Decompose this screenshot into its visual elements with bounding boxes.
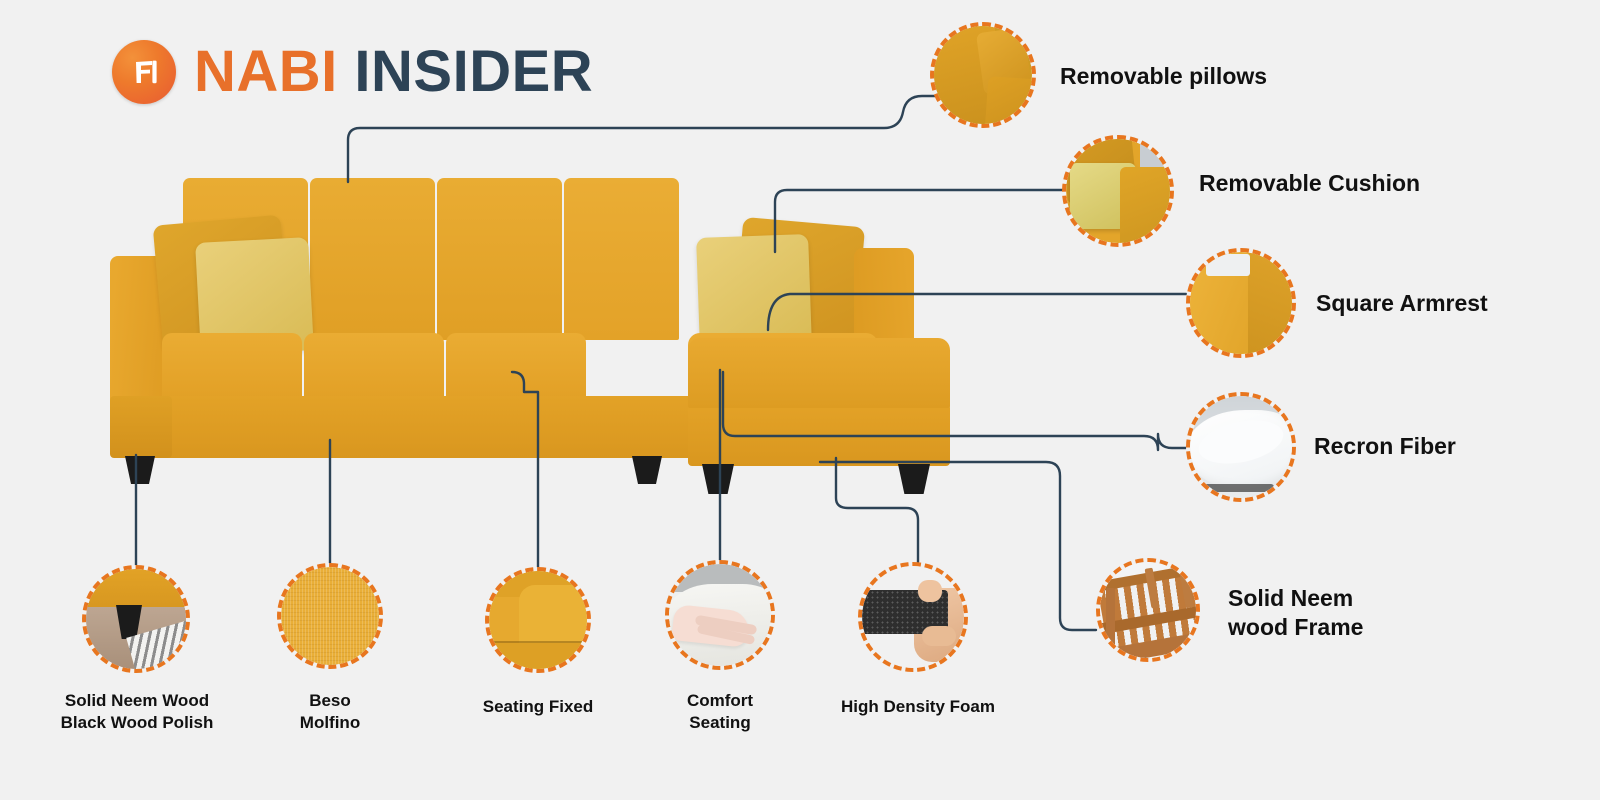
callout-bubble-removable-cushion[interactable] — [1062, 135, 1174, 247]
callout-bubble-square-armrest[interactable] — [1186, 248, 1296, 358]
callout-bubble-seating-fixed[interactable] — [485, 567, 591, 673]
callout-bubble-removable-pillows[interactable] — [930, 22, 1036, 128]
sofa-leg-chaise-left — [702, 464, 734, 494]
callout-label-square-armrest: Square Armrest — [1316, 289, 1488, 318]
sofa-chaise-base — [688, 404, 950, 466]
sofa-leg-chaise-right — [898, 464, 930, 494]
callout-label-removable-pillows: Removable pillows — [1060, 62, 1267, 91]
sofa-back-cushion-2 — [310, 178, 435, 340]
sofa-seat-cushion-1 — [162, 333, 302, 399]
brand-word-insider: INSIDER — [354, 39, 593, 104]
callout-label-high-density-foam: High Density Foam — [793, 696, 1043, 718]
callout-label-beso-molfino: Beso Molfino — [230, 690, 430, 734]
callout-bubble-solid-neem-wood-black-polish[interactable] — [82, 565, 190, 673]
sofa-chaise-body — [688, 338, 950, 408]
infographic-canvas: NABI INSIDER — [0, 0, 1600, 800]
sofa-back-cushion-3 — [437, 178, 562, 340]
callout-bubble-beso-molfino[interactable] — [277, 563, 383, 669]
callout-bubble-high-density-foam[interactable] — [858, 562, 968, 672]
callout-label-solid-neem-wood-frame: Solid Neem wood Frame — [1228, 584, 1363, 643]
brand-word-nabi: NABI — [194, 39, 338, 104]
callout-bubble-recron-fiber[interactable] — [1186, 392, 1296, 502]
sofa-seat-cushion-3 — [446, 333, 586, 399]
page-title: NABI INSIDER — [194, 43, 593, 101]
brand-header: NABI INSIDER — [112, 40, 593, 104]
wire-removable-pillows — [348, 96, 938, 182]
callout-bubble-solid-neem-wood-frame[interactable] — [1096, 558, 1200, 662]
sofa-leg-front-left — [125, 456, 155, 484]
callout-label-seating-fixed: Seating Fixed — [438, 696, 638, 718]
callout-label-recron-fiber: Recron Fiber — [1314, 432, 1456, 461]
sofa-leg-front-right — [632, 456, 662, 484]
callout-label-solid-neem-wood-black-polish: Solid Neem Wood Black Wood Polish — [22, 690, 252, 734]
sofa-base-left — [132, 396, 692, 458]
sofa-left-arm-base — [110, 396, 172, 458]
callout-bubble-comfort-seating[interactable] — [665, 560, 775, 670]
sofa-seat-cushion-2 — [304, 333, 444, 399]
sofa-illustration — [110, 178, 955, 503]
callout-label-comfort-seating: Comfort Seating — [620, 690, 820, 734]
callout-label-removable-cushion: Removable Cushion — [1199, 169, 1420, 198]
nabi-f-monogram-icon — [112, 40, 176, 104]
sofa-back-cushion-corner — [564, 178, 679, 340]
